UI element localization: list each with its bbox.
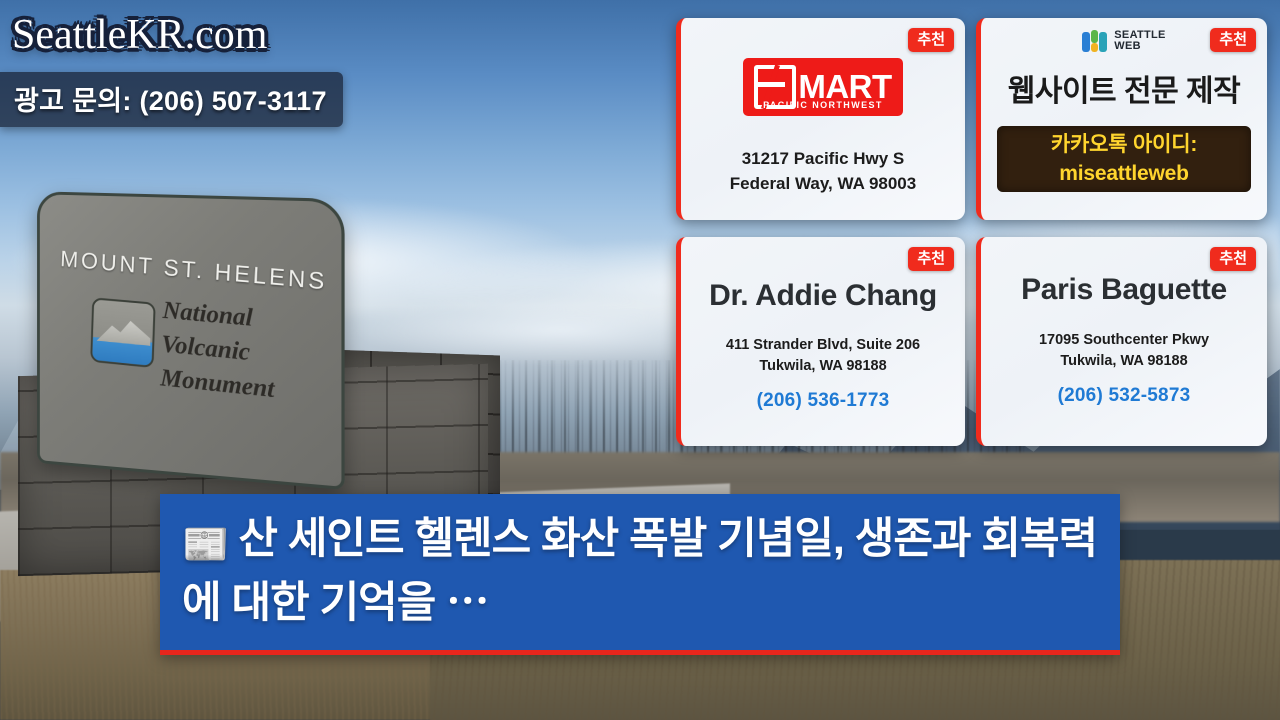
business-address: 411 Strander Blvd, Suite 206 Tukwila, WA…	[691, 335, 955, 377]
phone-number[interactable]: (206) 536-1773	[689, 390, 957, 412]
hmart-logo-main: MART	[798, 70, 891, 104]
monument-sign-title: MOUNT ST. HELENS	[60, 246, 323, 295]
address-line-2: Tukwila, WA 98188	[991, 351, 1257, 372]
business-name: Dr. Addie Chang	[689, 279, 957, 313]
ad-contact-text: 광고 문의: (206) 507-3117	[14, 79, 327, 118]
hmart-address: 31217 Pacific Hwy S Federal Way, WA 9800…	[691, 146, 955, 196]
kakao-id: miseattleweb	[1059, 159, 1189, 188]
recommended-badge: 추천	[908, 247, 954, 271]
hmart-logo-box: MART PACIFIC NORTHWEST	[743, 58, 903, 116]
screenshot-root: MOUNT ST. HELENS National Volcanic Monum…	[0, 0, 1280, 720]
hmart-logo: MART PACIFIC NORTHWEST	[681, 58, 965, 116]
site-logo: SeattleKR.com	[12, 12, 267, 58]
seattleweb-heading: 웹사이트 전문 제작	[987, 66, 1261, 110]
sponsor-card-grid: 추천 MART PACIFIC NORTHWEST 31217 Pacific …	[676, 18, 1262, 446]
headline-banner[interactable]: 📰산 세인트 헬렌스 화산 폭발 기념일, 생존과 회복력에 대한 기억을 ⋯	[160, 494, 1120, 655]
seattleweb-logo: SEATTLE WEB	[981, 30, 1267, 52]
recommended-badge: 추천	[1210, 247, 1256, 271]
seattleweb-mark-icon	[1082, 30, 1108, 52]
monument-sign: MOUNT ST. HELENS National Volcanic Monum…	[37, 191, 345, 490]
kakao-id-box[interactable]: 카카오톡 아이디: miseattleweb	[997, 126, 1251, 192]
headline-text: 산 세인트 헬렌스 화산 폭발 기념일, 생존과 회복력에 대한 기억을 ⋯	[182, 515, 1097, 627]
ad-contact-bar[interactable]: 광고 문의: (206) 507-3117	[0, 72, 343, 127]
sponsor-card-addie-chang[interactable]: 추천 Dr. Addie Chang 411 Strander Blvd, Su…	[676, 237, 965, 446]
monument-emblem-icon	[90, 297, 156, 368]
address-line-2: Federal Way, WA 98003	[691, 171, 955, 196]
business-address: 17095 Southcenter Pkwy Tukwila, WA 98188	[991, 330, 1257, 372]
hmart-logo-sub: PACIFIC NORTHWEST	[743, 100, 903, 110]
seattleweb-logo-text: SEATTLE WEB	[1114, 30, 1165, 52]
address-line-1: 17095 Southcenter Pkwy	[991, 330, 1257, 351]
seattleweb-logo-line-2: WEB	[1114, 40, 1141, 52]
kakao-label: 카카오톡 아이디:	[1051, 130, 1197, 159]
headline-text-wrap: 📰산 세인트 헬렌스 화산 폭발 기념일, 생존과 회복력에 대한 기억을 ⋯	[182, 510, 1100, 632]
sponsor-card-seattleweb[interactable]: 추천 SEATTLE WEB 웹사이트 전문 제작 카카오톡 아이디: mise…	[976, 18, 1267, 220]
newspaper-icon: 📰	[182, 524, 228, 566]
recommended-badge: 추천	[908, 28, 954, 52]
phone-number[interactable]: (206) 532-5873	[989, 385, 1259, 407]
sponsor-card-paris-baguette[interactable]: 추천 Paris Baguette 17095 Southcenter Pkwy…	[976, 237, 1267, 446]
address-line-1: 411 Strander Blvd, Suite 206	[691, 335, 955, 356]
address-line-2: Tukwila, WA 98188	[691, 356, 955, 377]
sponsor-card-hmart[interactable]: 추천 MART PACIFIC NORTHWEST 31217 Pacific …	[676, 18, 965, 220]
business-name: Paris Baguette	[989, 273, 1259, 307]
address-line-1: 31217 Pacific Hwy S	[691, 146, 955, 171]
monument-sign-script: National Volcanic Monument	[160, 294, 336, 413]
